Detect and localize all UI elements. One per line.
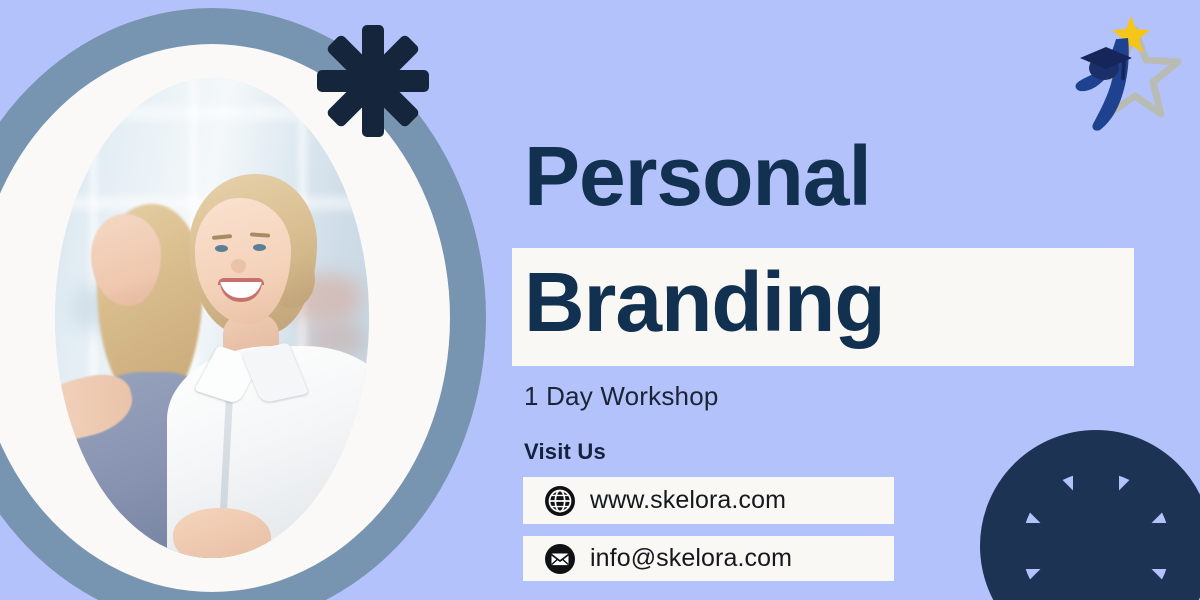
banner-canvas: Personal Branding 1 Day Workshop Visit U… <box>0 0 1200 600</box>
front-woman-nose <box>231 259 246 273</box>
front-woman-eye <box>253 244 266 251</box>
email-contact-row[interactable]: info@skelora.com <box>523 536 894 581</box>
photo-clip <box>55 78 369 558</box>
website-url[interactable]: www.skelora.com <box>590 486 786 515</box>
page-title-line-1: Personal <box>524 134 871 218</box>
website-contact-row[interactable]: www.skelora.com <box>523 477 894 524</box>
asterisk-icon <box>314 22 432 140</box>
globe-icon <box>545 486 575 516</box>
front-woman-hands <box>173 508 271 558</box>
workshop-photo <box>55 78 369 558</box>
envelope-icon <box>545 544 575 574</box>
visit-us-label: Visit Us <box>524 439 606 465</box>
front-woman-eye <box>215 245 228 252</box>
event-subtitle: 1 Day Workshop <box>524 381 719 412</box>
email-address[interactable]: info@skelora.com <box>590 544 792 573</box>
content-column: Personal Branding 1 Day Workshop Visit U… <box>512 0 1200 600</box>
page-title-line-2: Branding <box>524 260 885 344</box>
